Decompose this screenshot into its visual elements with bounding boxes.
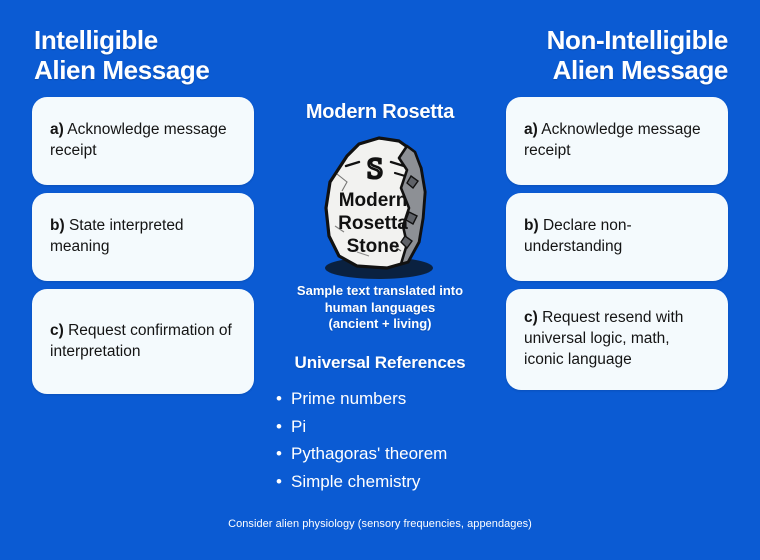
left-card-c-label: c) [50,322,64,339]
footer-note: Consider alien physiology (sensory frequ… [0,518,760,530]
left-card-b-text: State interpreted meaning [50,217,184,255]
right-card-a[interactable]: a) Acknowledge message receipt [506,97,728,185]
left-card-c-text: Request confirmation of interpretation [50,322,232,360]
right-card-a-label: a) [524,121,538,138]
left-card-c[interactable]: c) Request confirmation of interpretatio… [32,289,254,394]
reference-label: Simple chemistry [291,472,420,491]
list-item: • Simple chemistry [274,468,447,496]
list-item: • Prime numbers [274,385,447,413]
right-column-title: Non-Intelligible Alien Message [506,25,728,86]
universal-references-list: • Prime numbers • Pi • Pythagoras' theor… [274,385,447,495]
left-card-a[interactable]: a) Acknowledge message receipt [32,97,254,185]
left-card-a-text: Acknowledge message receipt [50,121,227,159]
list-item: • Pythagoras' theorem [274,440,447,468]
right-card-c-label: c) [524,309,538,326]
stone-caption-line3: (ancient + living) [262,316,498,333]
stone-glyph: S [367,152,384,185]
bullet-icon: • [276,385,282,413]
rosetta-stone-icon: S Modern Rosetta Stone [295,126,465,286]
stone-caption: Sample text translated into human langua… [262,283,498,333]
left-title-line1: Intelligible [34,25,158,55]
left-card-stack: a) Acknowledge message receipt b) State … [32,97,254,394]
right-title-line1: Non-Intelligible [547,25,728,55]
list-item: • Pi [274,413,447,441]
right-card-stack: a) Acknowledge message receipt b) Declar… [506,97,728,390]
right-title-line2: Alien Message [553,55,728,85]
stone-caption-line1: Sample text translated into [262,283,498,300]
reference-label: Pi [291,417,306,436]
bullet-icon: • [276,413,282,441]
stone-text-line2: Rosetta [338,213,408,234]
bullet-icon: • [276,440,282,468]
right-card-c-text: Request resend with universal logic, mat… [524,309,683,368]
right-card-c[interactable]: c) Request resend with universal logic, … [506,289,728,390]
poster-root: Intelligible Alien Message a) Acknowledg… [0,0,760,560]
bullet-icon: • [276,468,282,496]
right-card-b[interactable]: b) Declare non-understanding [506,193,728,281]
stone-text-line1: Modern [339,190,408,211]
left-card-b-label: b) [50,217,65,234]
modern-rosetta-title: Modern Rosetta [262,101,498,124]
left-card-b[interactable]: b) State interpreted meaning [32,193,254,281]
left-card-a-label: a) [50,121,64,138]
rosetta-stone-illustration: S Modern Rosetta Stone [262,126,498,286]
stone-text-line3: Stone [347,236,400,257]
reference-label: Pythagoras' theorem [291,444,447,463]
reference-label: Prime numbers [291,389,406,408]
right-card-b-label: b) [524,217,539,234]
stone-caption-line2: human languages [262,300,498,317]
right-card-b-text: Declare non-understanding [524,217,632,255]
right-card-a-text: Acknowledge message receipt [524,121,701,159]
left-column-title: Intelligible Alien Message [34,25,209,86]
universal-references-title: Universal References [262,353,498,373]
left-title-line2: Alien Message [34,55,209,85]
